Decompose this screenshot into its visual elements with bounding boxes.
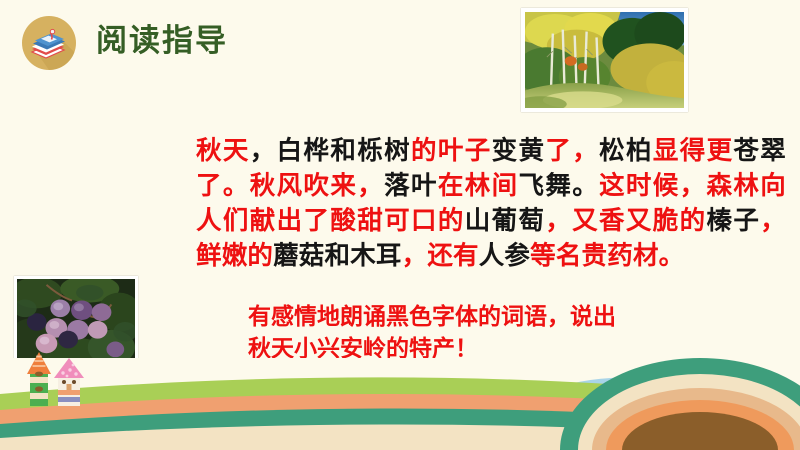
passage-seg-0: 秋天 <box>196 137 250 165</box>
passage-seg-19: 人参 <box>479 242 530 270</box>
passage-seg-7: 苍翠 <box>733 137 786 165</box>
passage-seg-3: 变黄 <box>492 137 546 165</box>
passage-seg-10: 在林间 <box>438 172 519 200</box>
passage-seg-4: 了， <box>545 137 599 165</box>
instruction-line-1: 有感情地朗诵黑色字体的词语，说出 <box>248 300 718 332</box>
passage-seg-18: ，还有 <box>402 242 479 270</box>
bottom-rainbow-bands <box>0 358 800 450</box>
page-title: 阅读指导 <box>96 19 228 63</box>
passage-seg-14: ，又香又脆的 <box>545 207 706 235</box>
passage-text: 秋天，白桦和栎树的叶子变黄了，松柏显得更苍翠了。秋风吹来，落叶在林间飞舞。这时候… <box>196 134 786 274</box>
passage-seg-13: 山葡萄 <box>465 207 546 235</box>
passage-seg-20: 等名贵药材。 <box>530 242 684 270</box>
cartoon-houses <box>18 350 98 408</box>
slide-canvas: 阅读指导 <box>0 0 800 450</box>
passage-seg-1: ，白桦和栎树 <box>250 137 411 165</box>
passage-seg-6: 显得更 <box>653 137 734 165</box>
passage-seg-17: 蘑菇和木耳 <box>273 242 402 270</box>
passage-seg-8: 了。秋风吹来， <box>196 172 384 200</box>
books-stack-icon <box>22 16 76 70</box>
house-right <box>54 358 84 406</box>
passage-seg-2: 的叶子 <box>411 137 492 165</box>
instruction-text: 有感情地朗诵黑色字体的词语，说出 秋天小兴安岭的特产！ <box>248 300 718 364</box>
passage-seg-9: 落叶 <box>384 172 438 200</box>
house-left <box>27 352 51 406</box>
passage-seg-5: 松柏 <box>599 137 653 165</box>
passage-seg-11: 飞舞。 <box>518 172 599 200</box>
passage-seg-15: 榛子 <box>707 207 761 235</box>
autumn-birch-forest-photo <box>521 8 688 112</box>
